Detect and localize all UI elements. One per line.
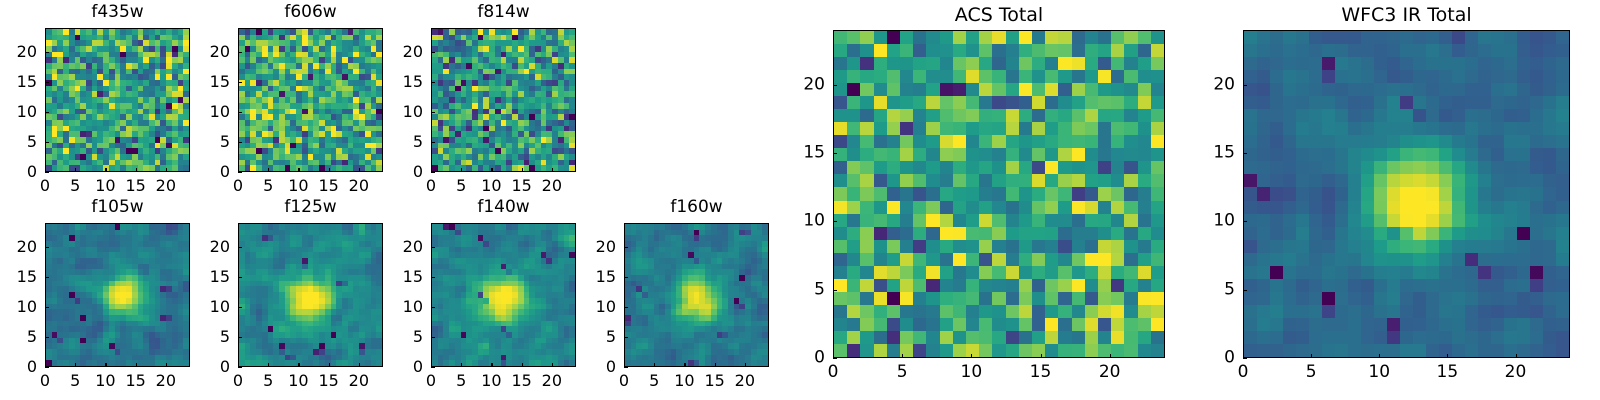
x-tick-label-f140w-0: 0 [426,373,436,389]
y-tick-wfc3-ir-total-5 [1243,290,1247,291]
x-tick-label-f160w-20: 20 [735,373,755,389]
panel-title-f125w: f125w [238,199,383,216]
x-tick-acs-total-15 [1041,354,1042,358]
y-tick-label-wfc3-ir-total-20: 20 [1197,76,1235,93]
y-tick-f125w-20 [238,247,242,248]
image-axes-f140w [431,223,576,367]
y-tick-label-f814w-0: 0 [385,164,423,180]
pixel-grid-f160w [625,224,768,366]
y-tick-f160w-5 [624,337,628,338]
y-tick-f140w-20 [431,247,435,248]
y-tick-acs-total-10 [833,221,837,222]
x-tick-f105w-5 [75,363,76,367]
x-tick-f140w-5 [461,363,462,367]
y-tick-label-acs-total-20: 20 [787,76,825,93]
y-tick-label-f606w-15: 15 [192,74,230,90]
x-tick-wfc3-ir-total-5 [1311,354,1312,358]
x-tick-label-wfc3-ir-total-5: 5 [1306,364,1317,381]
y-tick-label-f814w-20: 20 [385,44,423,60]
x-tick-f606w-20 [359,168,360,172]
x-tick-label-f105w-10: 10 [95,373,115,389]
x-tick-label-f435w-20: 20 [156,178,176,194]
y-tick-label-f435w-5: 5 [0,134,37,150]
y-tick-label-wfc3-ir-total-15: 15 [1197,145,1235,162]
y-tick-f125w-5 [238,337,242,338]
y-tick-label-f140w-20: 20 [385,239,423,255]
y-tick-f606w-15 [238,82,242,83]
y-tick-label-f435w-0: 0 [0,164,37,180]
y-tick-f105w-15 [45,277,49,278]
y-tick-label-f140w-15: 15 [385,269,423,285]
y-tick-label-f814w-10: 10 [385,104,423,120]
y-tick-label-f160w-0: 0 [578,359,616,375]
y-tick-f125w-15 [238,277,242,278]
x-tick-label-f105w-0: 0 [40,373,50,389]
x-tick-label-acs-total-0: 0 [828,364,839,381]
x-tick-label-f140w-20: 20 [542,373,562,389]
x-tick-label-f606w-5: 5 [263,178,273,194]
y-tick-f606w-5 [238,142,242,143]
x-tick-label-f125w-15: 15 [318,373,338,389]
x-tick-f125w-10 [298,363,299,367]
panel-title-f160w: f160w [624,199,769,216]
x-tick-label-f606w-10: 10 [288,178,308,194]
y-tick-label-acs-total-15: 15 [787,145,825,162]
x-tick-label-f435w-0: 0 [40,178,50,194]
panel-f606w: f606w0055101015152020 [178,0,403,204]
x-tick-label-f435w-15: 15 [125,178,145,194]
x-tick-f435w-10 [105,168,106,172]
x-tick-label-f125w-5: 5 [263,373,273,389]
y-tick-acs-total-15 [833,153,837,154]
y-tick-label-acs-total-0: 0 [787,350,825,367]
x-tick-acs-total-5 [902,354,903,358]
y-tick-label-f606w-20: 20 [192,44,230,60]
x-tick-f814w-10 [491,168,492,172]
y-tick-label-f125w-20: 20 [192,239,230,255]
y-tick-label-f140w-0: 0 [385,359,423,375]
x-tick-label-f814w-20: 20 [542,178,562,194]
image-axes-f105w [45,223,190,367]
x-tick-f140w-20 [552,363,553,367]
x-tick-label-wfc3-ir-total-15: 15 [1437,364,1459,381]
y-tick-f105w-10 [45,307,49,308]
y-tick-f140w-0 [431,367,435,368]
image-axes-f435w [45,28,190,172]
y-tick-label-f606w-0: 0 [192,164,230,180]
panel-title-f435w: f435w [45,4,190,21]
pixel-grid-f140w [432,224,575,366]
x-tick-label-f606w-20: 20 [349,178,369,194]
x-tick-label-f435w-10: 10 [95,178,115,194]
x-tick-label-wfc3-ir-total-0: 0 [1238,364,1249,381]
x-tick-label-acs-total-15: 15 [1030,364,1052,381]
x-tick-f105w-10 [105,363,106,367]
y-tick-f140w-15 [431,277,435,278]
y-tick-f814w-0 [431,172,435,173]
panel-title-acs-total: ACS Total [833,6,1165,25]
y-tick-wfc3-ir-total-20 [1243,85,1247,86]
x-tick-wfc3-ir-total-15 [1447,354,1448,358]
pixel-grid-f814w [432,29,575,171]
x-tick-f606w-5 [268,168,269,172]
pixel-grid-wfc3-ir-total [1244,31,1569,357]
y-tick-f606w-10 [238,112,242,113]
x-tick-label-acs-total-10: 10 [961,364,983,381]
image-axes-f814w [431,28,576,172]
panel-title-wfc3-ir-total: WFC3 IR Total [1243,6,1570,25]
x-tick-f160w-10 [684,363,685,367]
x-tick-label-f140w-5: 5 [456,373,466,389]
y-tick-f140w-10 [431,307,435,308]
x-tick-f125w-5 [268,363,269,367]
y-tick-wfc3-ir-total-15 [1243,153,1247,154]
panel-f140w: f140w0055101015152020 [371,195,596,399]
x-tick-label-acs-total-5: 5 [897,364,908,381]
y-tick-f435w-15 [45,82,49,83]
panel-f125w: f125w0055101015152020 [178,195,403,399]
x-tick-label-f606w-15: 15 [318,178,338,194]
y-tick-f140w-5 [431,337,435,338]
pixel-grid-acs-total [834,31,1164,357]
panel-f160w: f160w0055101015152020 [564,195,789,399]
x-tick-f160w-20 [745,363,746,367]
y-tick-label-acs-total-10: 10 [787,213,825,230]
y-tick-f435w-5 [45,142,49,143]
panel-title-f606w: f606w [238,4,383,21]
panel-title-f105w: f105w [45,199,190,216]
y-tick-f125w-10 [238,307,242,308]
y-tick-label-f105w-5: 5 [0,329,37,345]
x-tick-f435w-20 [166,168,167,172]
y-tick-label-f105w-10: 10 [0,299,37,315]
x-tick-f140w-10 [491,363,492,367]
x-tick-f140w-15 [522,363,523,367]
image-axes-f125w [238,223,383,367]
x-tick-f814w-15 [522,168,523,172]
panel-title-f140w: f140w [431,199,576,216]
image-axes-wfc3-ir-total [1243,30,1570,358]
y-tick-f606w-0 [238,172,242,173]
x-tick-wfc3-ir-total-20 [1516,354,1517,358]
panel-f814w: f814w0055101015152020 [371,0,596,204]
x-tick-label-f105w-20: 20 [156,373,176,389]
y-tick-label-f105w-15: 15 [0,269,37,285]
y-tick-f814w-15 [431,82,435,83]
x-tick-f606w-10 [298,168,299,172]
x-tick-label-f140w-10: 10 [481,373,501,389]
y-tick-label-f105w-20: 20 [0,239,37,255]
x-tick-label-f105w-15: 15 [125,373,145,389]
panel-acs-total: ACS Total0055101015152020 [773,2,1185,390]
y-tick-f105w-5 [45,337,49,338]
x-tick-acs-total-10 [971,354,972,358]
y-tick-label-f125w-0: 0 [192,359,230,375]
x-tick-label-f814w-10: 10 [481,178,501,194]
x-tick-f125w-15 [329,363,330,367]
x-tick-f160w-5 [654,363,655,367]
x-tick-label-f160w-15: 15 [704,373,724,389]
y-tick-label-f125w-5: 5 [192,329,230,345]
figure-canvas: f435w0055101015152020f606w00551010151520… [0,0,1600,400]
image-axes-f606w [238,28,383,172]
pixel-grid-f435w [46,29,189,171]
y-tick-f606w-20 [238,52,242,53]
y-tick-f435w-10 [45,112,49,113]
y-tick-label-f160w-20: 20 [578,239,616,255]
x-tick-f814w-20 [552,168,553,172]
panel-wfc3-ir-total: WFC3 IR Total0055101015152020 [1183,2,1590,390]
y-tick-label-f160w-5: 5 [578,329,616,345]
x-tick-label-f125w-20: 20 [349,373,369,389]
y-tick-acs-total-5 [833,290,837,291]
y-tick-label-f435w-15: 15 [0,74,37,90]
x-tick-wfc3-ir-total-10 [1379,354,1380,358]
y-tick-wfc3-ir-total-10 [1243,221,1247,222]
y-tick-label-f606w-5: 5 [192,134,230,150]
x-tick-f435w-5 [75,168,76,172]
x-tick-label-f814w-5: 5 [456,178,466,194]
y-tick-f435w-0 [45,172,49,173]
y-tick-acs-total-0 [833,358,837,359]
x-tick-label-f606w-0: 0 [233,178,243,194]
y-tick-f814w-10 [431,112,435,113]
y-tick-f814w-5 [431,142,435,143]
y-tick-label-f606w-10: 10 [192,104,230,120]
x-tick-label-f105w-5: 5 [70,373,80,389]
x-tick-label-f435w-5: 5 [70,178,80,194]
y-tick-f160w-20 [624,247,628,248]
y-tick-label-wfc3-ir-total-5: 5 [1197,281,1235,298]
y-tick-label-wfc3-ir-total-0: 0 [1197,350,1235,367]
y-tick-f160w-10 [624,307,628,308]
x-tick-acs-total-20 [1110,354,1111,358]
image-axes-acs-total [833,30,1165,358]
x-tick-label-f814w-15: 15 [511,178,531,194]
y-tick-label-acs-total-5: 5 [787,281,825,298]
y-tick-label-f435w-10: 10 [0,104,37,120]
x-tick-label-acs-total-20: 20 [1099,364,1121,381]
y-tick-label-f160w-15: 15 [578,269,616,285]
y-tick-wfc3-ir-total-0 [1243,358,1247,359]
x-tick-label-f160w-5: 5 [649,373,659,389]
y-tick-label-f105w-0: 0 [0,359,37,375]
y-tick-f105w-0 [45,367,49,368]
pixel-grid-f105w [46,224,189,366]
x-tick-f105w-20 [166,363,167,367]
y-tick-f125w-0 [238,367,242,368]
y-tick-label-f814w-15: 15 [385,74,423,90]
x-tick-label-wfc3-ir-total-10: 10 [1368,364,1390,381]
y-tick-label-f140w-10: 10 [385,299,423,315]
panel-title-f814w: f814w [431,4,576,21]
x-tick-label-wfc3-ir-total-20: 20 [1505,364,1527,381]
y-tick-f435w-20 [45,52,49,53]
y-tick-f814w-20 [431,52,435,53]
y-tick-f105w-20 [45,247,49,248]
x-tick-f125w-20 [359,363,360,367]
x-tick-f606w-15 [329,168,330,172]
x-tick-f105w-15 [136,363,137,367]
y-tick-label-f435w-20: 20 [0,44,37,60]
pixel-grid-f606w [239,29,382,171]
y-tick-label-f140w-5: 5 [385,329,423,345]
x-tick-label-f125w-10: 10 [288,373,308,389]
y-tick-f160w-0 [624,367,628,368]
x-tick-label-f160w-10: 10 [674,373,694,389]
y-tick-label-f814w-5: 5 [385,134,423,150]
y-tick-label-wfc3-ir-total-10: 10 [1197,213,1235,230]
x-tick-label-f140w-15: 15 [511,373,531,389]
y-tick-label-f160w-10: 10 [578,299,616,315]
x-tick-label-f814w-0: 0 [426,178,436,194]
y-tick-label-f125w-10: 10 [192,299,230,315]
y-tick-acs-total-20 [833,85,837,86]
image-axes-f160w [624,223,769,367]
x-tick-f435w-15 [136,168,137,172]
x-tick-label-f125w-0: 0 [233,373,243,389]
x-tick-label-f160w-0: 0 [619,373,629,389]
pixel-grid-f125w [239,224,382,366]
y-tick-label-f125w-15: 15 [192,269,230,285]
y-tick-f160w-15 [624,277,628,278]
x-tick-f814w-5 [461,168,462,172]
x-tick-f160w-15 [715,363,716,367]
